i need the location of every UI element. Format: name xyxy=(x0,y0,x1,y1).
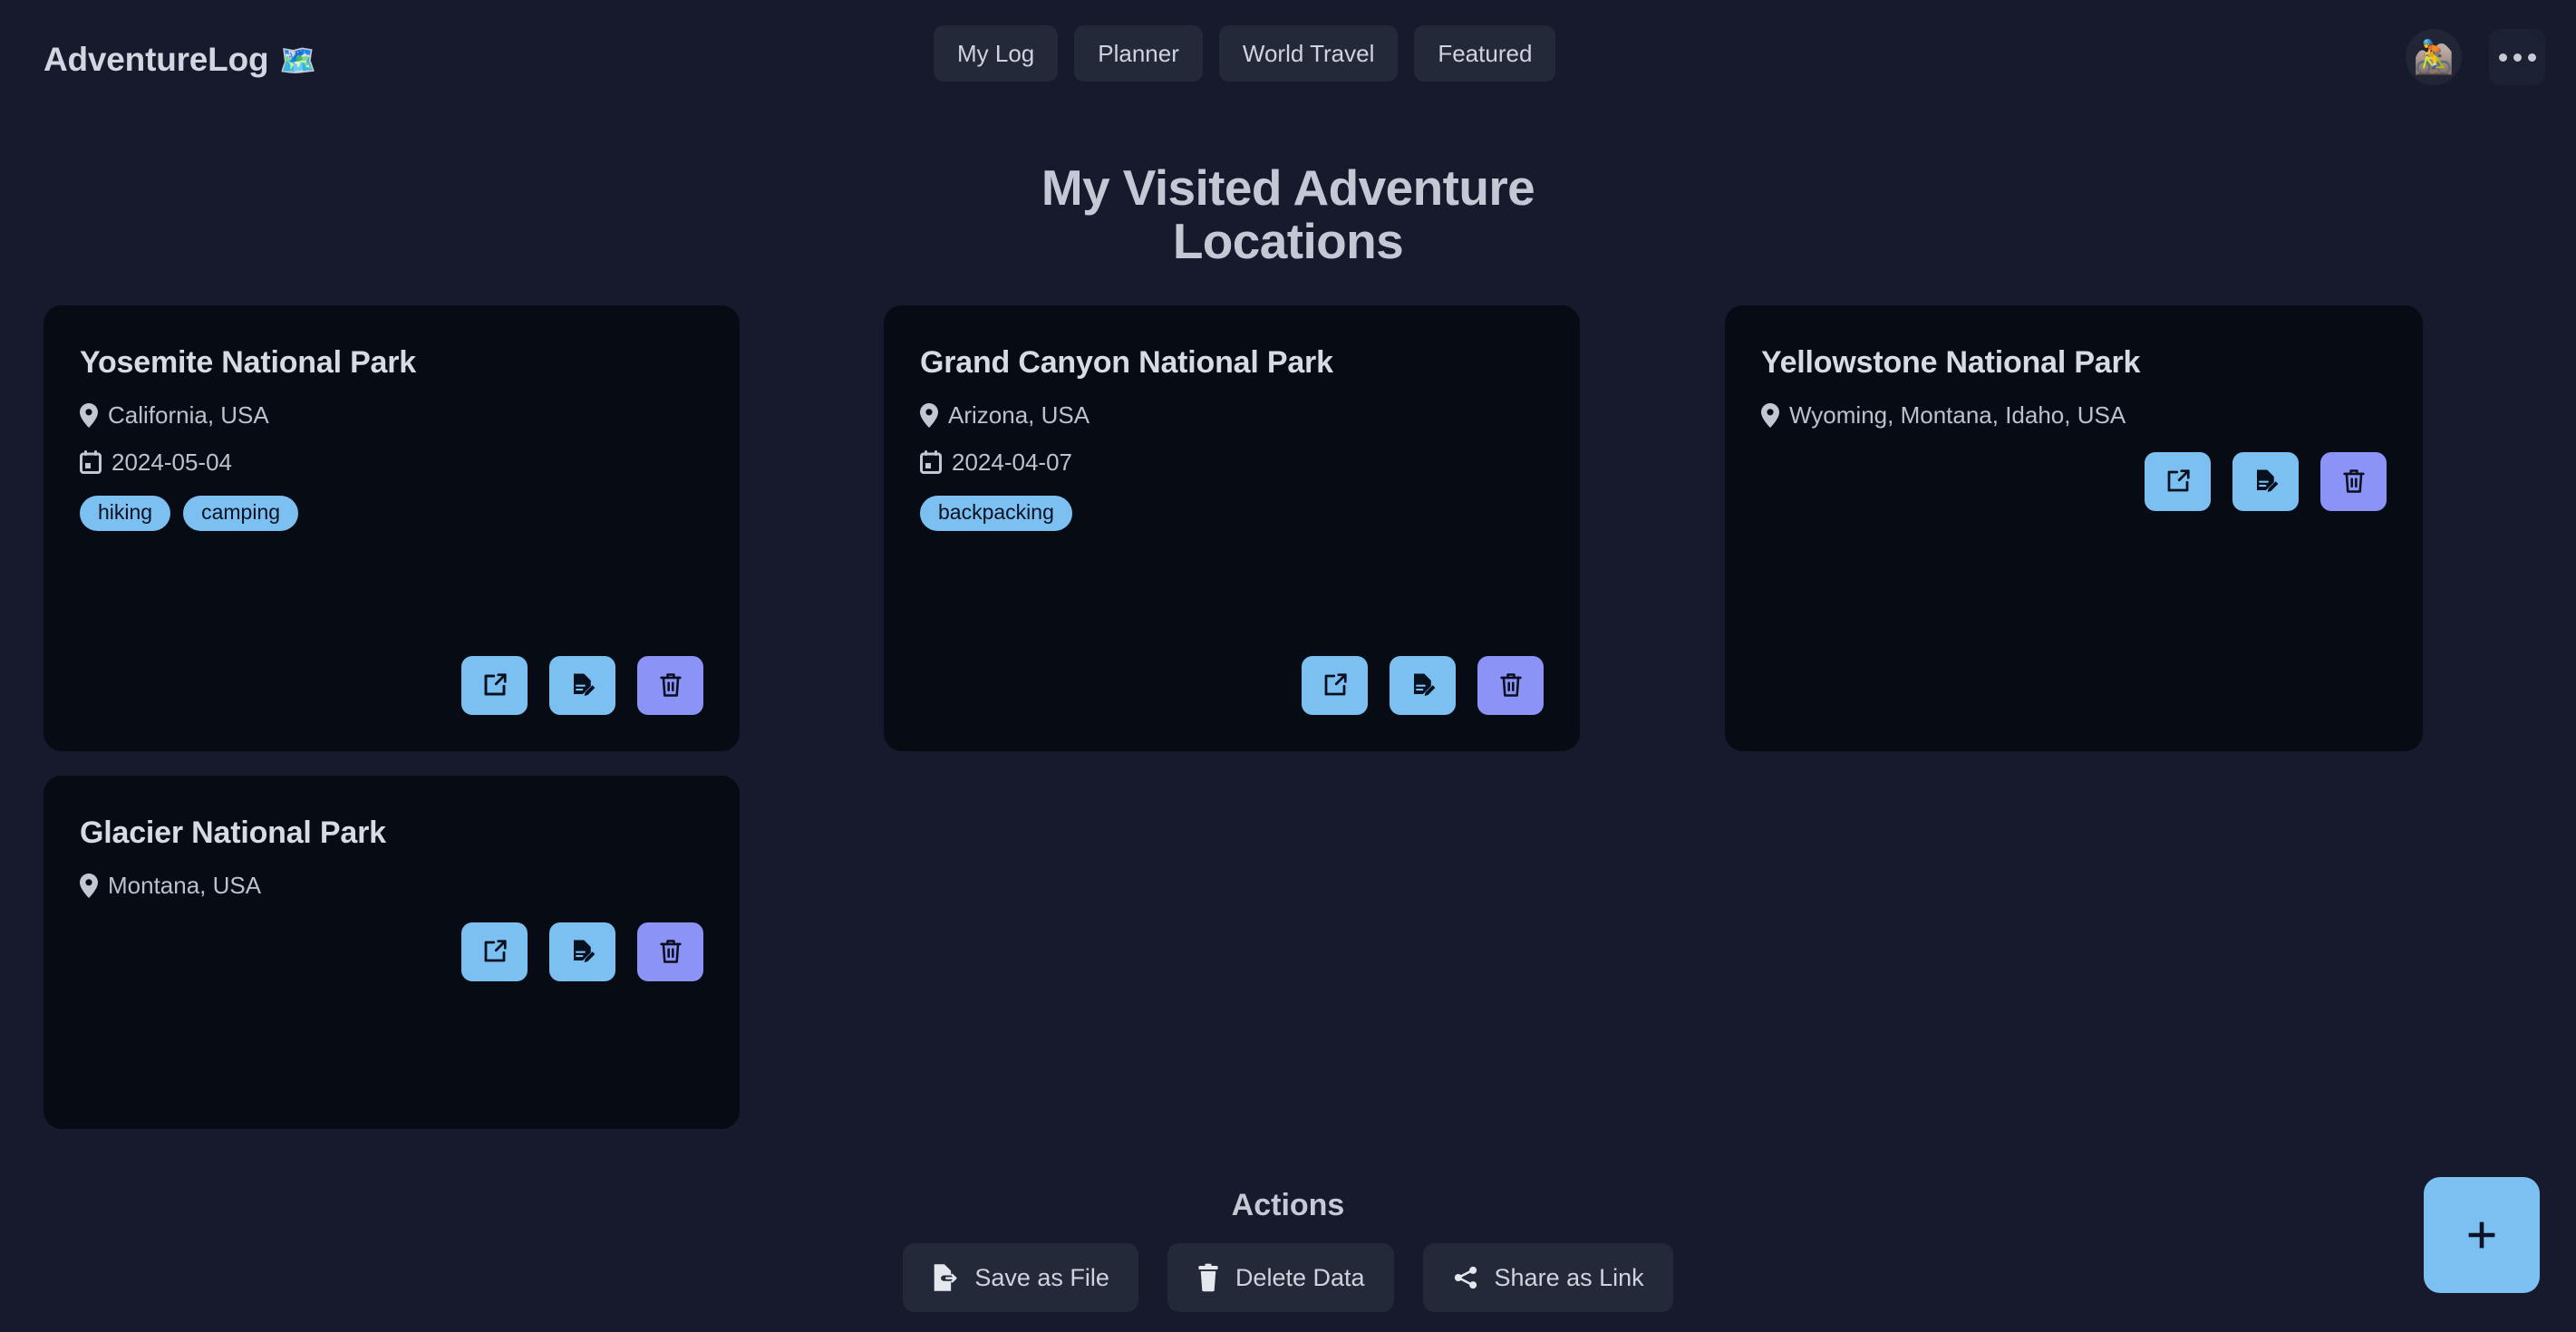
actions-section: Actions Save as File Delete Data xyxy=(0,1188,2576,1312)
location-text: Montana, USA xyxy=(108,872,261,900)
map-pin-icon xyxy=(1761,403,1779,428)
actions-title: Actions xyxy=(0,1188,2576,1223)
trash-icon xyxy=(2341,468,2367,495)
ellipsis-dot xyxy=(2513,53,2522,62)
cyclist-emoji: 🚵 xyxy=(2414,41,2455,73)
location-row: Wyoming, Montana, Idaho, USA xyxy=(1761,401,2387,430)
map-emoji: 🗺️ xyxy=(279,45,316,75)
open-location-button[interactable] xyxy=(2145,452,2211,511)
action-label: Share as Link xyxy=(1495,1264,1644,1292)
add-location-button[interactable] xyxy=(2424,1177,2540,1293)
open-location-button[interactable] xyxy=(461,922,528,981)
document-edit-icon xyxy=(569,671,596,699)
external-link-icon xyxy=(1322,671,1349,699)
file-export-icon xyxy=(932,1263,959,1292)
brand-title: AdventureLog xyxy=(44,41,268,79)
action-label: Save as File xyxy=(974,1264,1109,1292)
location-card-title: Glacier National Park xyxy=(80,816,703,851)
card-actions xyxy=(80,922,703,981)
map-pin-icon xyxy=(80,874,98,898)
date-text: 2024-04-07 xyxy=(952,449,1072,477)
share-as-link-button[interactable]: Share as Link xyxy=(1423,1243,1673,1312)
date-row: 2024-05-04 xyxy=(80,449,703,477)
save-as-file-button[interactable]: Save as File xyxy=(903,1243,1138,1312)
delete-location-button[interactable] xyxy=(637,922,703,981)
document-edit-icon xyxy=(1409,671,1437,699)
tag-pill[interactable]: backpacking xyxy=(920,496,1072,531)
tags-row: backpacking xyxy=(920,496,1544,531)
external-link-icon xyxy=(2164,468,2192,495)
trash-icon xyxy=(1498,671,1524,699)
location-card-title: Grand Canyon National Park xyxy=(920,345,1544,381)
tab-my-log[interactable]: My Log xyxy=(934,25,1058,82)
date-row: 2024-04-07 xyxy=(920,449,1544,477)
card-actions xyxy=(1761,452,2387,511)
open-location-button[interactable] xyxy=(1302,656,1368,715)
external-link-icon xyxy=(481,938,508,965)
tab-world-travel[interactable]: World Travel xyxy=(1219,25,1398,82)
trash-icon xyxy=(1196,1263,1220,1292)
external-link-icon xyxy=(481,671,508,699)
date-text: 2024-05-04 xyxy=(111,449,232,477)
edit-location-button[interactable] xyxy=(549,656,615,715)
location-text: Wyoming, Montana, Idaho, USA xyxy=(1789,401,2126,430)
open-location-button[interactable] xyxy=(461,656,528,715)
tab-featured[interactable]: Featured xyxy=(1414,25,1555,82)
map-pin-icon xyxy=(80,403,98,428)
page-title: My Visited Adventure Locations xyxy=(925,161,1651,269)
calendar-icon xyxy=(920,450,942,474)
plus-icon xyxy=(2461,1214,2503,1256)
tab-planner[interactable]: Planner xyxy=(1074,25,1203,82)
tag-pill[interactable]: camping xyxy=(183,496,298,531)
share-icon xyxy=(1452,1264,1479,1291)
calendar-icon xyxy=(80,450,102,474)
location-card[interactable]: Grand Canyon National Park Arizona, USA … xyxy=(884,305,1580,751)
app-brand[interactable]: AdventureLog 🗺️ xyxy=(44,41,316,79)
top-navbar: AdventureLog 🗺️ My Log Planner World Tra… xyxy=(0,0,2576,136)
delete-location-button[interactable] xyxy=(2320,452,2387,511)
location-text: California, USA xyxy=(108,401,269,430)
nav-right-group: 🚵 xyxy=(2406,29,2545,85)
avatar[interactable]: 🚵 xyxy=(2406,29,2462,85)
location-row: California, USA xyxy=(80,401,703,430)
document-edit-icon xyxy=(2252,468,2280,495)
ellipsis-dot xyxy=(2528,53,2536,62)
delete-data-button[interactable]: Delete Data xyxy=(1167,1243,1394,1312)
location-card[interactable]: Glacier National Park Montana, USA xyxy=(44,776,740,1129)
card-actions xyxy=(920,656,1544,715)
ellipsis-dot xyxy=(2499,53,2507,62)
tag-pill[interactable]: hiking xyxy=(80,496,170,531)
location-text: Arizona, USA xyxy=(948,401,1089,430)
location-card-title: Yellowstone National Park xyxy=(1761,345,2387,381)
location-row: Arizona, USA xyxy=(920,401,1544,430)
location-card[interactable]: Yellowstone National Park Wyoming, Monta… xyxy=(1725,305,2423,751)
tags-row: hiking camping xyxy=(80,496,703,531)
edit-location-button[interactable] xyxy=(549,922,615,981)
delete-location-button[interactable] xyxy=(1477,656,1544,715)
actions-row: Save as File Delete Data Share as Link xyxy=(0,1243,2576,1312)
edit-location-button[interactable] xyxy=(2232,452,2299,511)
trash-icon xyxy=(658,671,683,699)
ellipsis-icon[interactable] xyxy=(2489,29,2545,85)
nav-tabs: My Log Planner World Travel Featured xyxy=(934,25,1555,82)
document-edit-icon xyxy=(569,938,596,965)
edit-location-button[interactable] xyxy=(1390,656,1456,715)
locations-grid: Yosemite National Park California, USA 2… xyxy=(0,305,2576,1121)
location-card-title: Yosemite National Park xyxy=(80,345,703,381)
trash-icon xyxy=(658,938,683,965)
delete-location-button[interactable] xyxy=(637,656,703,715)
map-pin-icon xyxy=(920,403,938,428)
card-actions xyxy=(80,656,703,715)
location-card[interactable]: Yosemite National Park California, USA 2… xyxy=(44,305,740,751)
action-label: Delete Data xyxy=(1235,1264,1365,1292)
location-row: Montana, USA xyxy=(80,872,703,900)
